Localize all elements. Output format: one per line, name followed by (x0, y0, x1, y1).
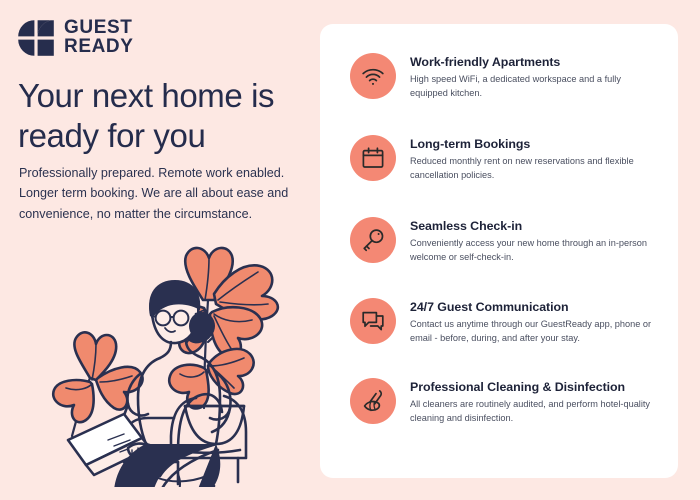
feature-description: Reduced monthly rent on new reservations… (410, 155, 656, 183)
feature-text: Work-friendly Apartments High speed WiFi… (410, 52, 656, 101)
brand-logo[interactable]: GUEST READY (17, 19, 134, 57)
wifi-icon (350, 53, 396, 99)
feature-title: Seamless Check-in (410, 218, 656, 234)
left-hero-column: GUEST READY Your next home is ready for … (0, 0, 320, 500)
feature-description: High speed WiFi, a dedicated workspace a… (410, 73, 656, 101)
page-headline: Your next home is ready for you (18, 76, 308, 157)
brand-line-2: READY (64, 38, 134, 57)
feature-title: Professional Cleaning & Disinfection (410, 379, 656, 395)
feature-text: 24/7 Guest Communication Contact us anyt… (410, 297, 656, 346)
brand-wordmark: GUEST READY (64, 19, 134, 56)
feature-item[interactable]: Seamless Check-in Conveniently access yo… (350, 216, 666, 265)
feature-text: Long-term Bookings Reduced monthly rent … (410, 134, 656, 183)
key-icon (350, 217, 396, 263)
feature-title: 24/7 Guest Communication (410, 299, 656, 315)
features-card: Work-friendly Apartments High speed WiFi… (320, 24, 678, 478)
feature-title: Long-term Bookings (410, 136, 656, 152)
feature-description: Conveniently access your new home throug… (410, 237, 656, 265)
feature-item[interactable]: Professional Cleaning & Disinfection All… (350, 377, 666, 426)
hero-subcopy: Professionally prepared. Remote work ena… (19, 163, 291, 224)
hero-illustration (28, 222, 313, 487)
calendar-icon (350, 135, 396, 181)
broom-icon (350, 378, 396, 424)
feature-item[interactable]: Long-term Bookings Reduced monthly rent … (350, 134, 666, 183)
feature-item[interactable]: Work-friendly Apartments High speed WiFi… (350, 52, 666, 101)
feature-description: All cleaners are routinely audited, and … (410, 398, 656, 426)
feature-text: Professional Cleaning & Disinfection All… (410, 377, 656, 426)
feature-text: Seamless Check-in Conveniently access yo… (410, 216, 656, 265)
promo-page: GUEST READY Your next home is ready for … (0, 0, 700, 500)
feature-title: Work-friendly Apartments (410, 54, 656, 70)
feature-description: Contact us anytime through our GuestRead… (410, 318, 656, 346)
feature-item[interactable]: 24/7 Guest Communication Contact us anyt… (350, 297, 666, 346)
guestready-quadrant-logo-icon (17, 19, 55, 57)
chat-bubbles-icon (350, 298, 396, 344)
